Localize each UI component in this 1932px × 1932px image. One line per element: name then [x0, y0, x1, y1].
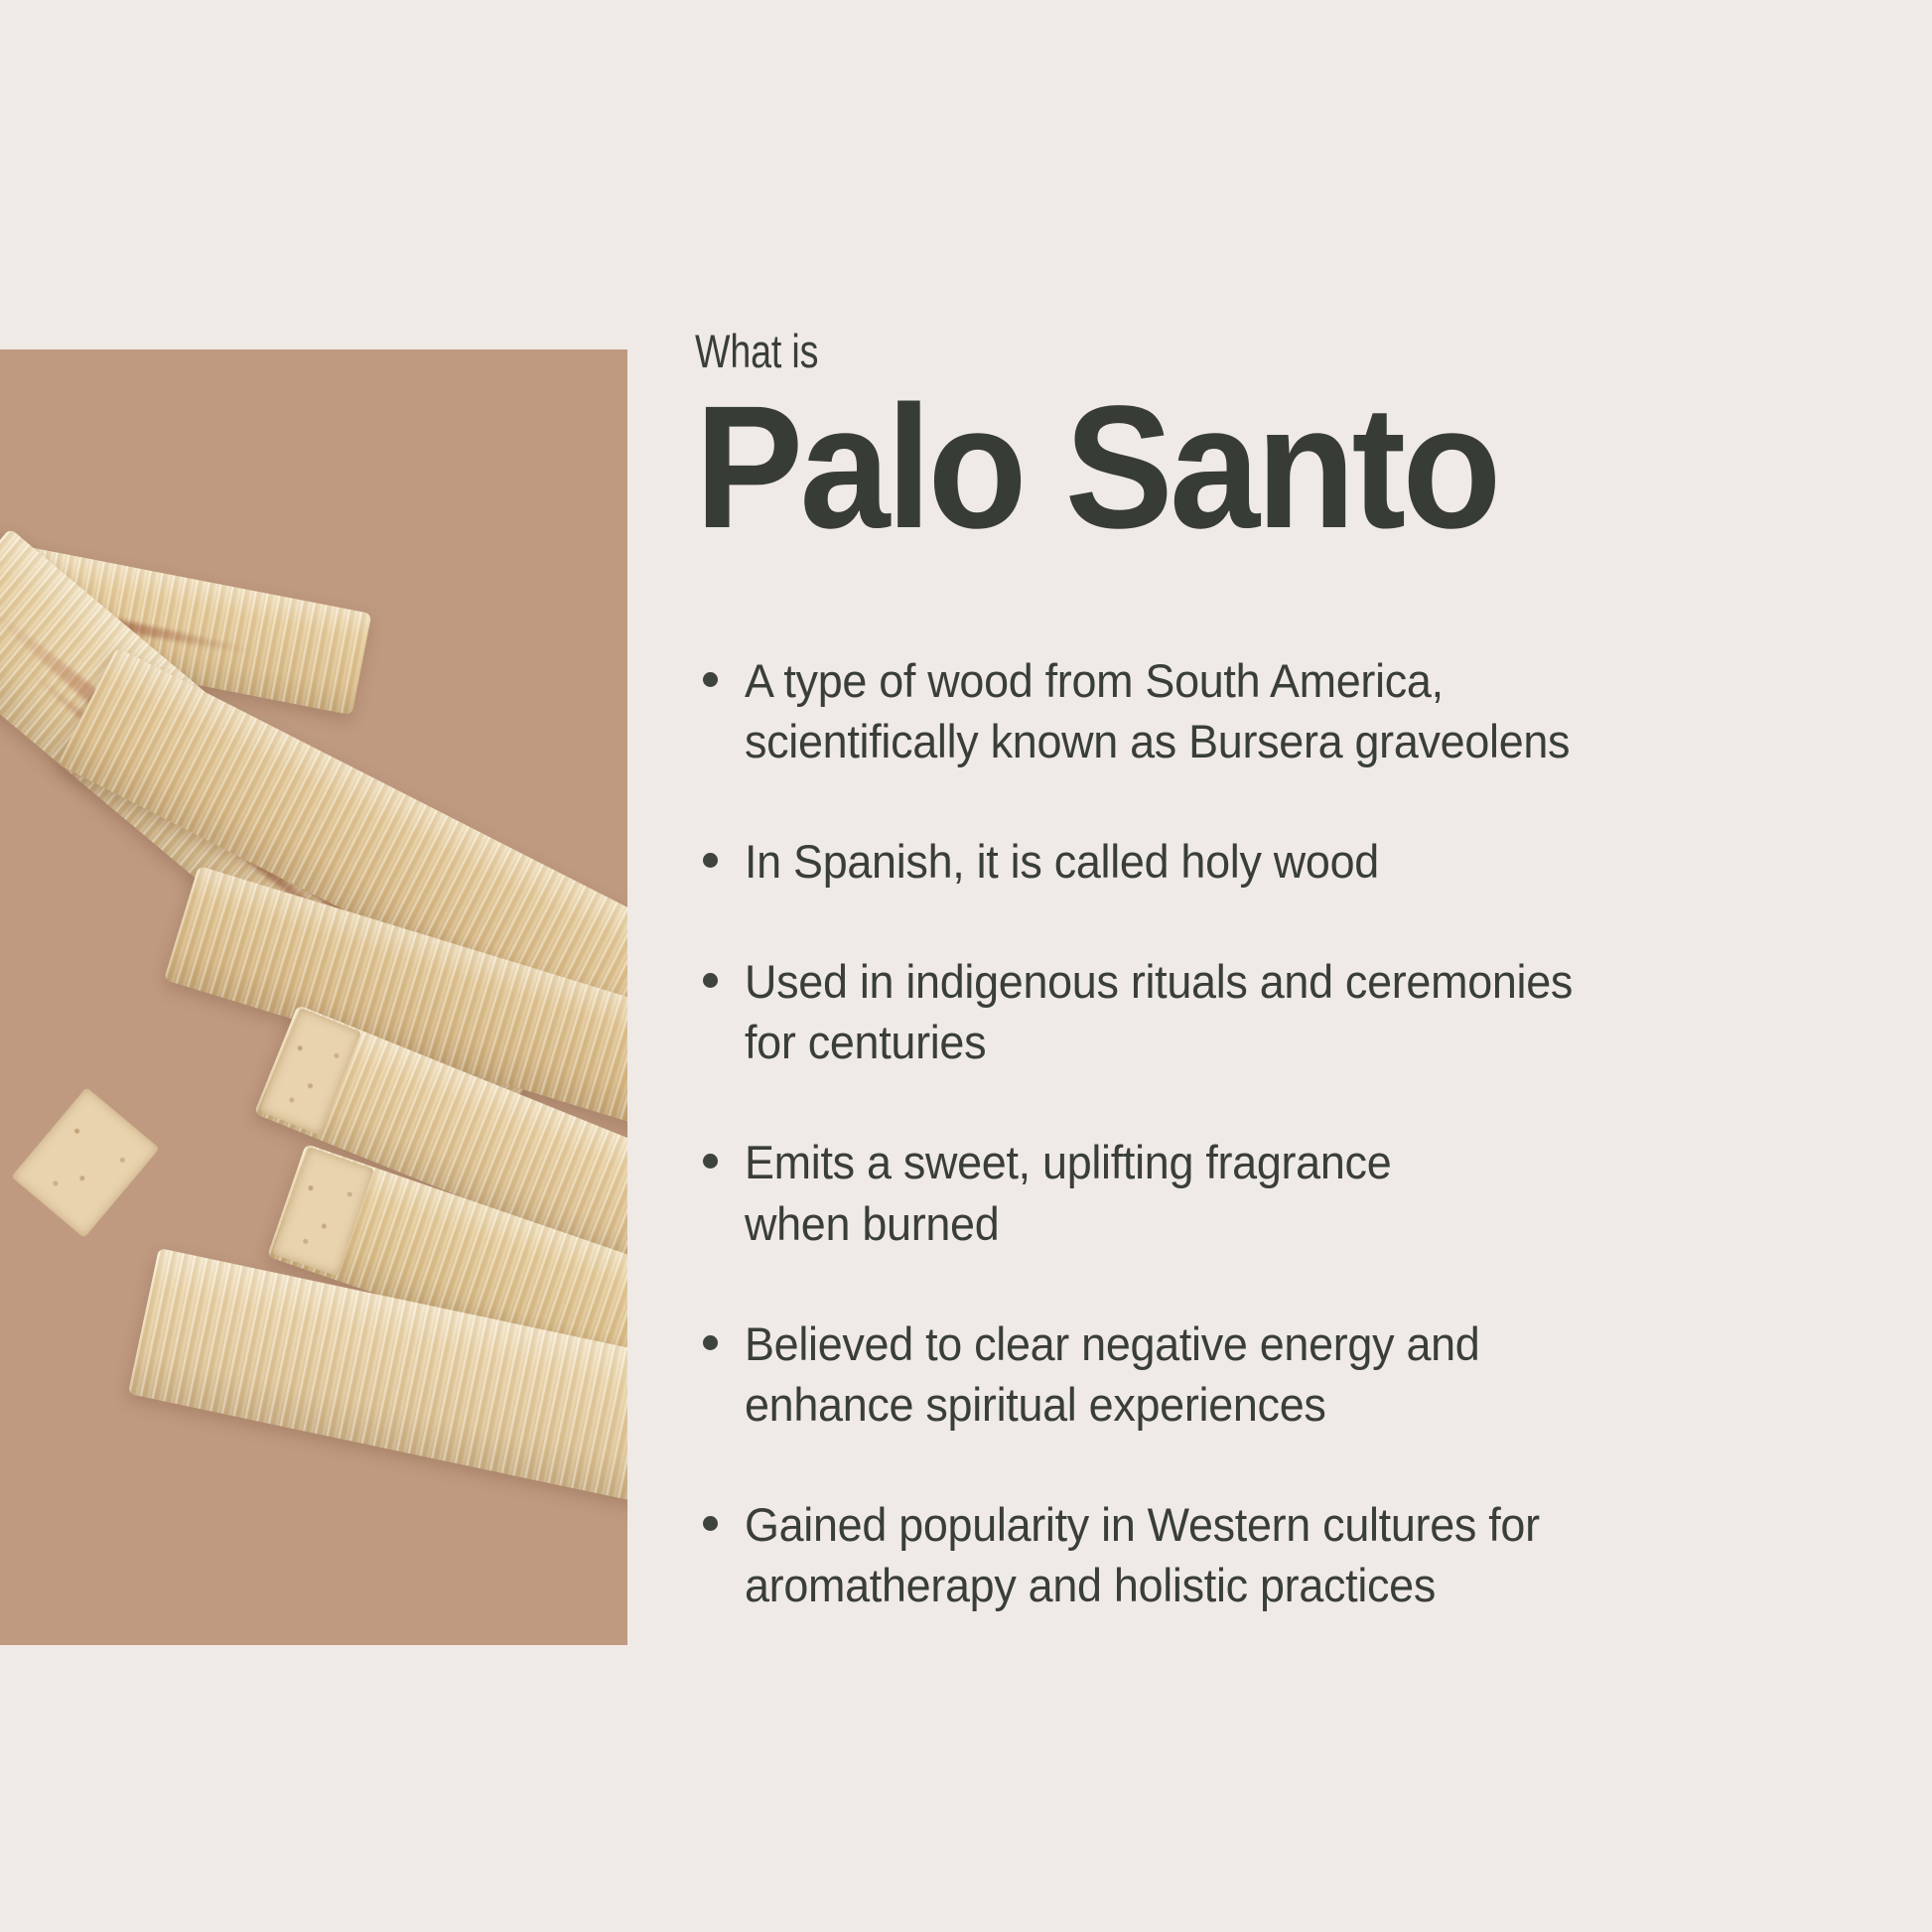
list-item-text: Gained popularity in Western cultures fo… — [745, 1494, 1835, 1615]
bullet-dot-icon — [703, 853, 718, 868]
list-item-text: A type of wood from South America, scien… — [745, 650, 1835, 771]
bullet-dot-icon — [703, 1516, 718, 1531]
list-item: A type of wood from South America, scien… — [695, 650, 1886, 771]
palo-santo-image-panel — [0, 349, 627, 1645]
bullet-dot-icon — [703, 973, 718, 988]
bullet-dot-icon — [703, 1154, 718, 1169]
list-item: Believed to clear negative energy and en… — [695, 1313, 1886, 1435]
bullet-dot-icon — [703, 1335, 718, 1350]
list-item: Used in indigenous rituals and ceremonie… — [695, 951, 1886, 1072]
page-title: Palo Santo — [695, 380, 1803, 555]
eyebrow-label: What is — [695, 328, 1648, 374]
wood-stick-2-end — [11, 1087, 159, 1238]
list-item-text: Emits a sweet, uplifting fragrance when … — [745, 1132, 1835, 1253]
content-column: What is Palo Santo A type of wood from S… — [695, 328, 1886, 1615]
list-item-text: Used in indigenous rituals and ceremonie… — [745, 951, 1835, 1072]
list-item: In Spanish, it is called holy wood — [695, 831, 1886, 892]
facts-list: A type of wood from South America, scien… — [695, 650, 1886, 1615]
wood-sticks-illustration — [0, 349, 627, 1645]
list-item: Emits a sweet, uplifting fragrance when … — [695, 1132, 1886, 1253]
list-item-text: Believed to clear negative energy and en… — [745, 1313, 1835, 1435]
list-item: Gained popularity in Western cultures fo… — [695, 1494, 1886, 1615]
bullet-dot-icon — [703, 672, 718, 687]
list-item-text: In Spanish, it is called holy wood — [745, 831, 1835, 892]
poster-canvas: What is Palo Santo A type of wood from S… — [0, 0, 1932, 1932]
